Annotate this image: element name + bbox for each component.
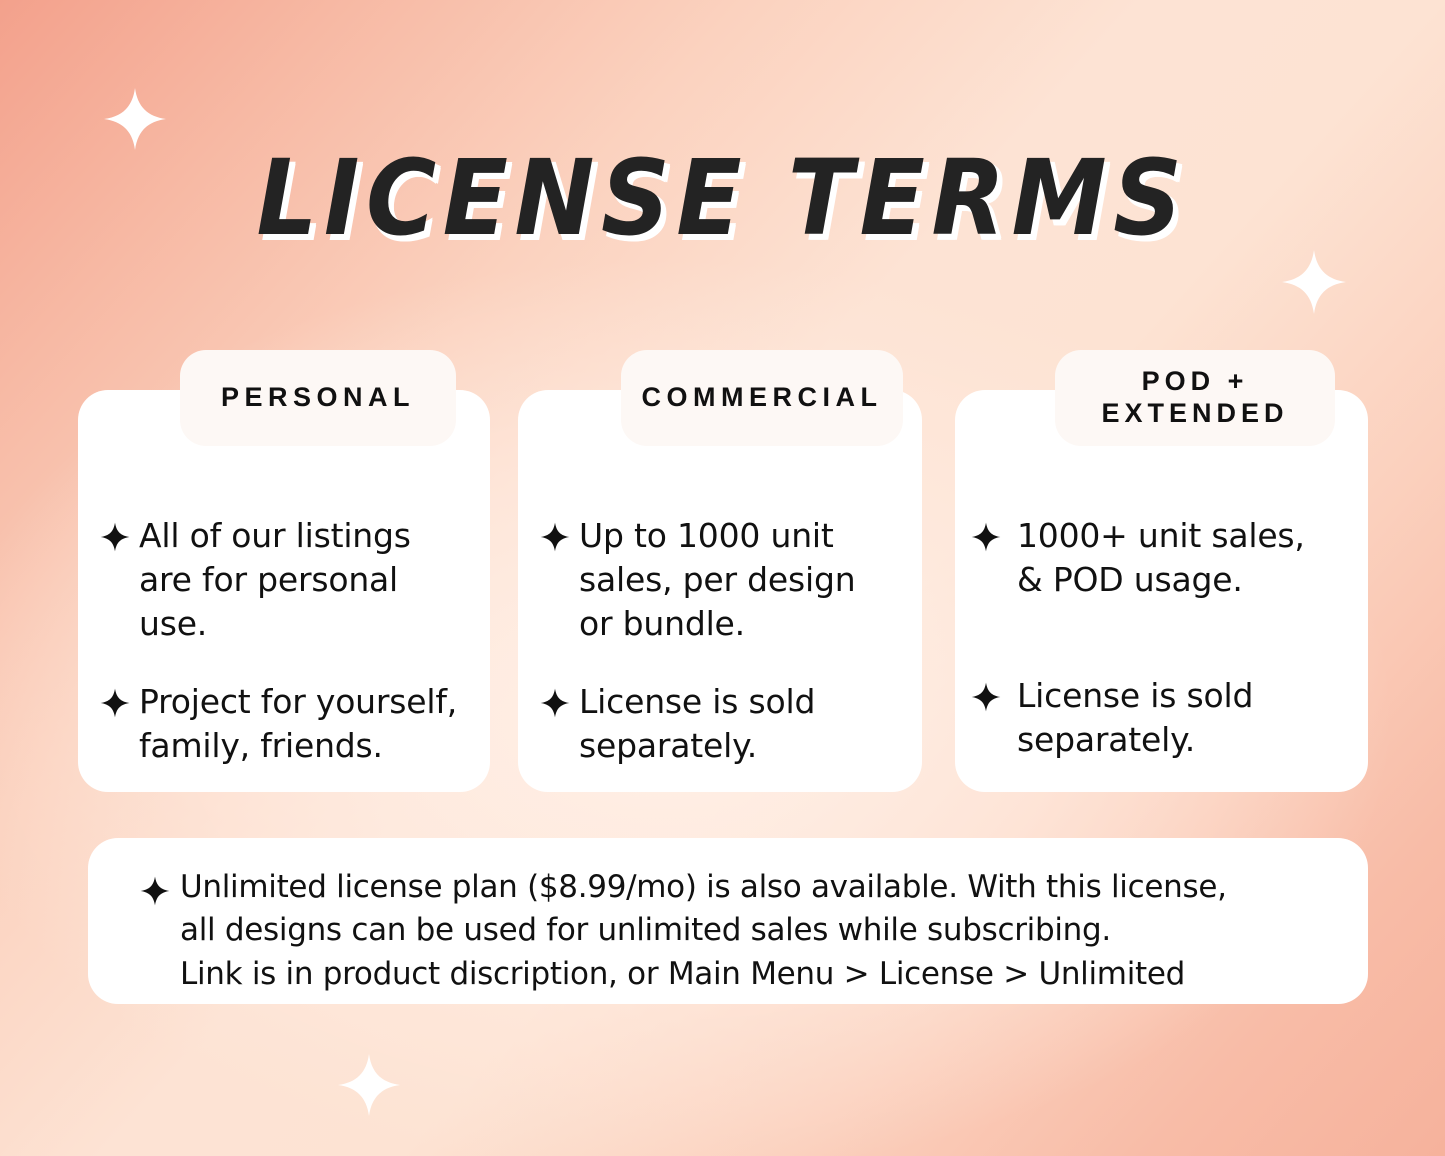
sparkle-icon: [104, 86, 166, 152]
list-item: Up to 1000 unit sales, per design or bun…: [540, 514, 902, 646]
license-card-commercial-body: Up to 1000 unit sales, per design or bun…: [518, 486, 922, 767]
sparkle-icon: [338, 1052, 400, 1118]
list-item-text: License is sold separately.: [579, 680, 815, 768]
star-bullet-icon: [100, 688, 130, 718]
license-terms-poster: LICENSE TERMS All of our listings are fo…: [0, 0, 1445, 1156]
list-item: License is sold separately.: [540, 680, 902, 768]
license-card-personal: All of our listings are for personal use…: [78, 390, 490, 792]
list-item: All of our listings are for personal use…: [100, 514, 470, 646]
license-card-header-personal: PERSONAL: [180, 350, 456, 446]
star-bullet-icon: [140, 876, 170, 906]
unlimited-plan-text: Unlimited license plan ($8.99/mo) is als…: [180, 866, 1227, 996]
star-bullet-icon: [100, 522, 130, 552]
license-card-pod-extended: 1000+ unit sales, & POD usage. License i…: [955, 390, 1368, 792]
license-tier-cards: All of our listings are for personal use…: [78, 350, 1368, 792]
list-item: License is sold separately.: [971, 674, 1348, 762]
list-item: 1000+ unit sales, & POD usage.: [971, 514, 1348, 602]
list-item-text: License is sold separately.: [1017, 674, 1253, 762]
license-card-personal-body: All of our listings are for personal use…: [78, 486, 490, 767]
page-title-wrap: LICENSE TERMS: [0, 146, 1445, 250]
list-item-text: Up to 1000 unit sales, per design or bun…: [579, 514, 855, 646]
sparkle-icon: [1282, 248, 1346, 316]
banner-row: Unlimited license plan ($8.99/mo) is als…: [118, 866, 1338, 996]
page-title: LICENSE TERMS: [257, 146, 1189, 250]
list-item-text: 1000+ unit sales, & POD usage.: [1017, 514, 1305, 602]
license-card-pod-extended-body: 1000+ unit sales, & POD usage. License i…: [955, 486, 1368, 762]
license-card-header-label: POD + EXTENDED: [1101, 366, 1288, 430]
star-bullet-icon: [971, 522, 1001, 552]
license-card-commercial: Up to 1000 unit sales, per design or bun…: [518, 390, 922, 792]
list-item-text: All of our listings are for personal use…: [139, 514, 411, 646]
license-card-header-label: COMMERCIAL: [642, 382, 883, 414]
list-item: Project for yourself, family, friends.: [100, 680, 470, 768]
license-card-header-commercial: COMMERCIAL: [621, 350, 903, 446]
license-card-header-pod-extended: POD + EXTENDED: [1055, 350, 1335, 446]
star-bullet-icon: [540, 522, 570, 552]
list-item-text: Project for yourself, family, friends.: [139, 680, 457, 768]
star-bullet-icon: [971, 682, 1001, 712]
unlimited-plan-banner: Unlimited license plan ($8.99/mo) is als…: [88, 838, 1368, 1004]
star-bullet-icon: [540, 688, 570, 718]
license-card-header-label: PERSONAL: [221, 382, 415, 414]
